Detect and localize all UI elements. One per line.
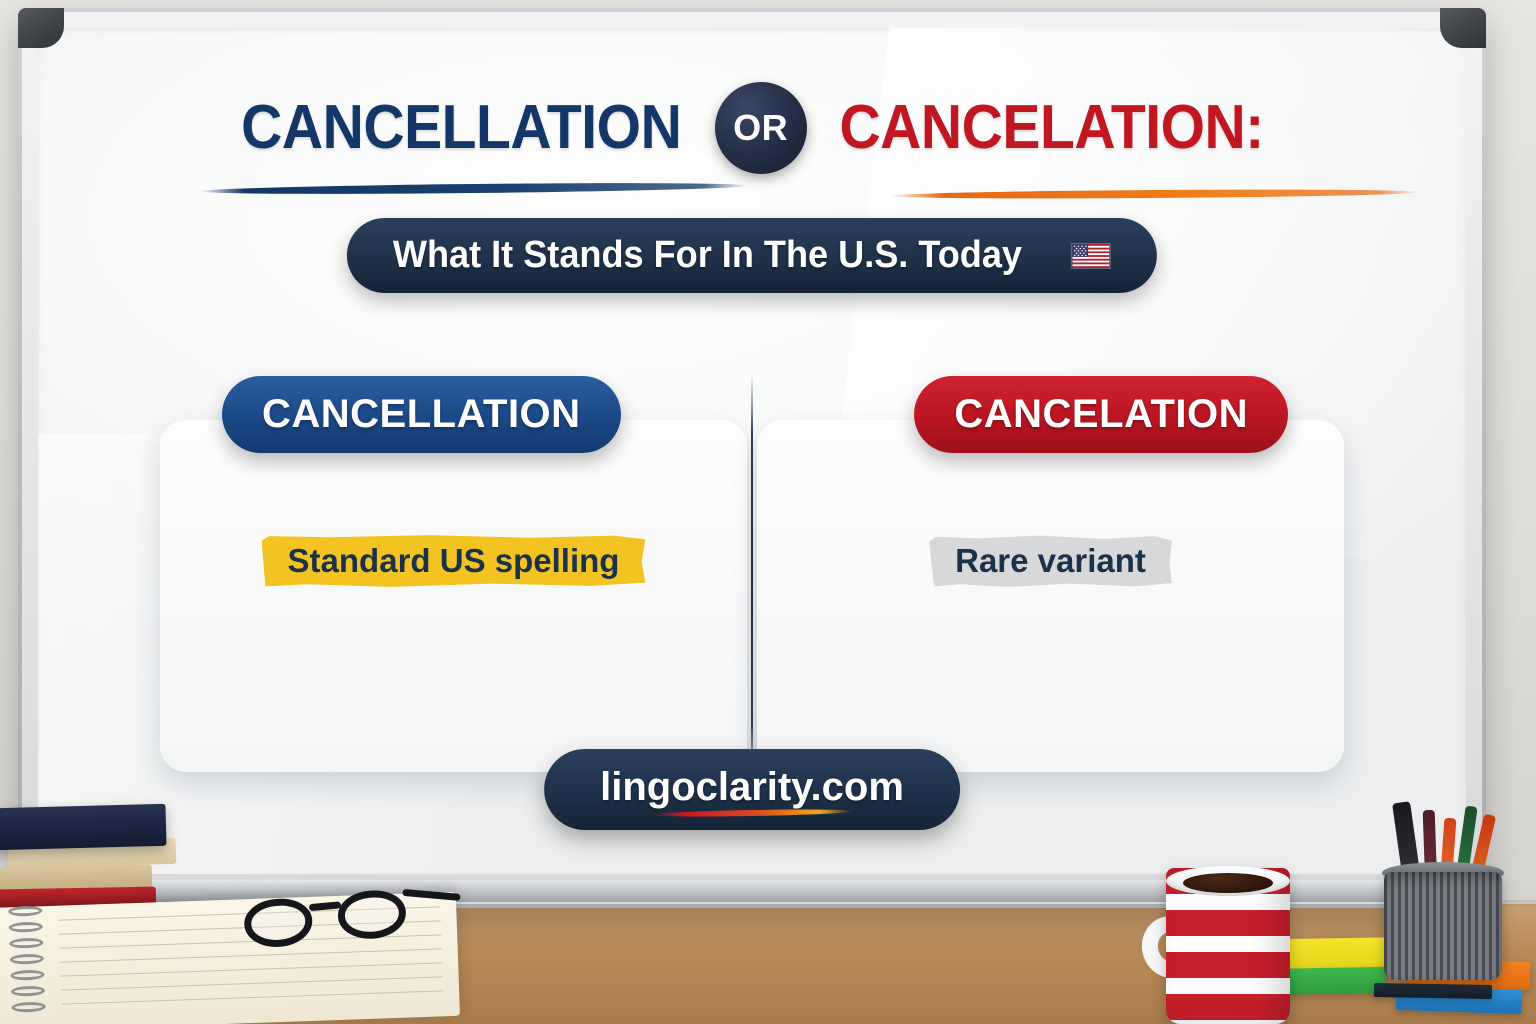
pill-cancellation-label: CANCELLATION xyxy=(262,392,581,437)
card-cancellation: Standard US spelling xyxy=(160,420,747,772)
notebook-spiral-binding xyxy=(2,901,60,1023)
infographic-scene: CANCELLATION OR CANCELATION: What It Sta… xyxy=(0,0,1536,1024)
us-flag-icon xyxy=(1071,243,1111,269)
pill-cancellation[interactable]: CANCELLATION xyxy=(222,376,621,453)
eyeglasses-lens-right xyxy=(336,888,408,942)
or-badge: OR xyxy=(715,82,807,174)
whiteboard: CANCELLATION OR CANCELATION: What It Sta… xyxy=(18,8,1486,908)
pen-holder-mesh xyxy=(1384,872,1502,980)
pen-on-desk xyxy=(1374,983,1492,999)
subtitle-text: What It Stands For In The U.S. Today xyxy=(393,234,1022,277)
frame-corner-top-right xyxy=(1440,8,1486,48)
board-content: CANCELLATION OR CANCELATION: What It Sta… xyxy=(18,8,1486,908)
left-note-row: Standard US spelling xyxy=(160,530,747,594)
title-word-cancellation: CANCELLATION xyxy=(241,97,681,159)
right-highlight: Rare variant xyxy=(929,530,1172,594)
center-divider xyxy=(751,376,753,780)
right-note-row: Rare variant xyxy=(757,530,1344,594)
eyeglasses-lens-left xyxy=(242,896,314,950)
subtitle-banner: What It Stands For In The U.S. Today xyxy=(347,218,1157,293)
right-note-text: Rare variant xyxy=(955,542,1146,580)
brand-banner[interactable]: lingoclarity.com xyxy=(544,749,960,830)
pill-cancelation-label: CANCELATION xyxy=(954,392,1248,437)
coffee-mug xyxy=(1150,868,1300,1024)
left-note-text: Standard US spelling xyxy=(288,542,620,580)
eyeglasses-bridge xyxy=(309,901,341,911)
orange-underline-stroke xyxy=(890,188,1420,200)
pen-holder xyxy=(1384,830,1502,980)
title-word-cancelation: CANCELATION: xyxy=(839,97,1263,159)
left-highlight: Standard US spelling xyxy=(262,530,646,594)
mug-coffee xyxy=(1183,873,1273,893)
comparison-section: Standard US spelling CANCELLATION Rare v… xyxy=(138,398,1366,778)
brand-text: lingoclarity.com xyxy=(600,765,904,810)
pill-cancelation[interactable]: CANCELATION xyxy=(914,376,1288,453)
or-badge-label: OR xyxy=(733,107,788,149)
card-cancelation: Rare variant xyxy=(757,420,1344,772)
frame-corner-top-left xyxy=(18,8,64,48)
main-title: CANCELLATION OR CANCELATION: xyxy=(18,82,1486,174)
blue-underline-stroke xyxy=(200,181,748,196)
book-navy xyxy=(0,804,167,850)
